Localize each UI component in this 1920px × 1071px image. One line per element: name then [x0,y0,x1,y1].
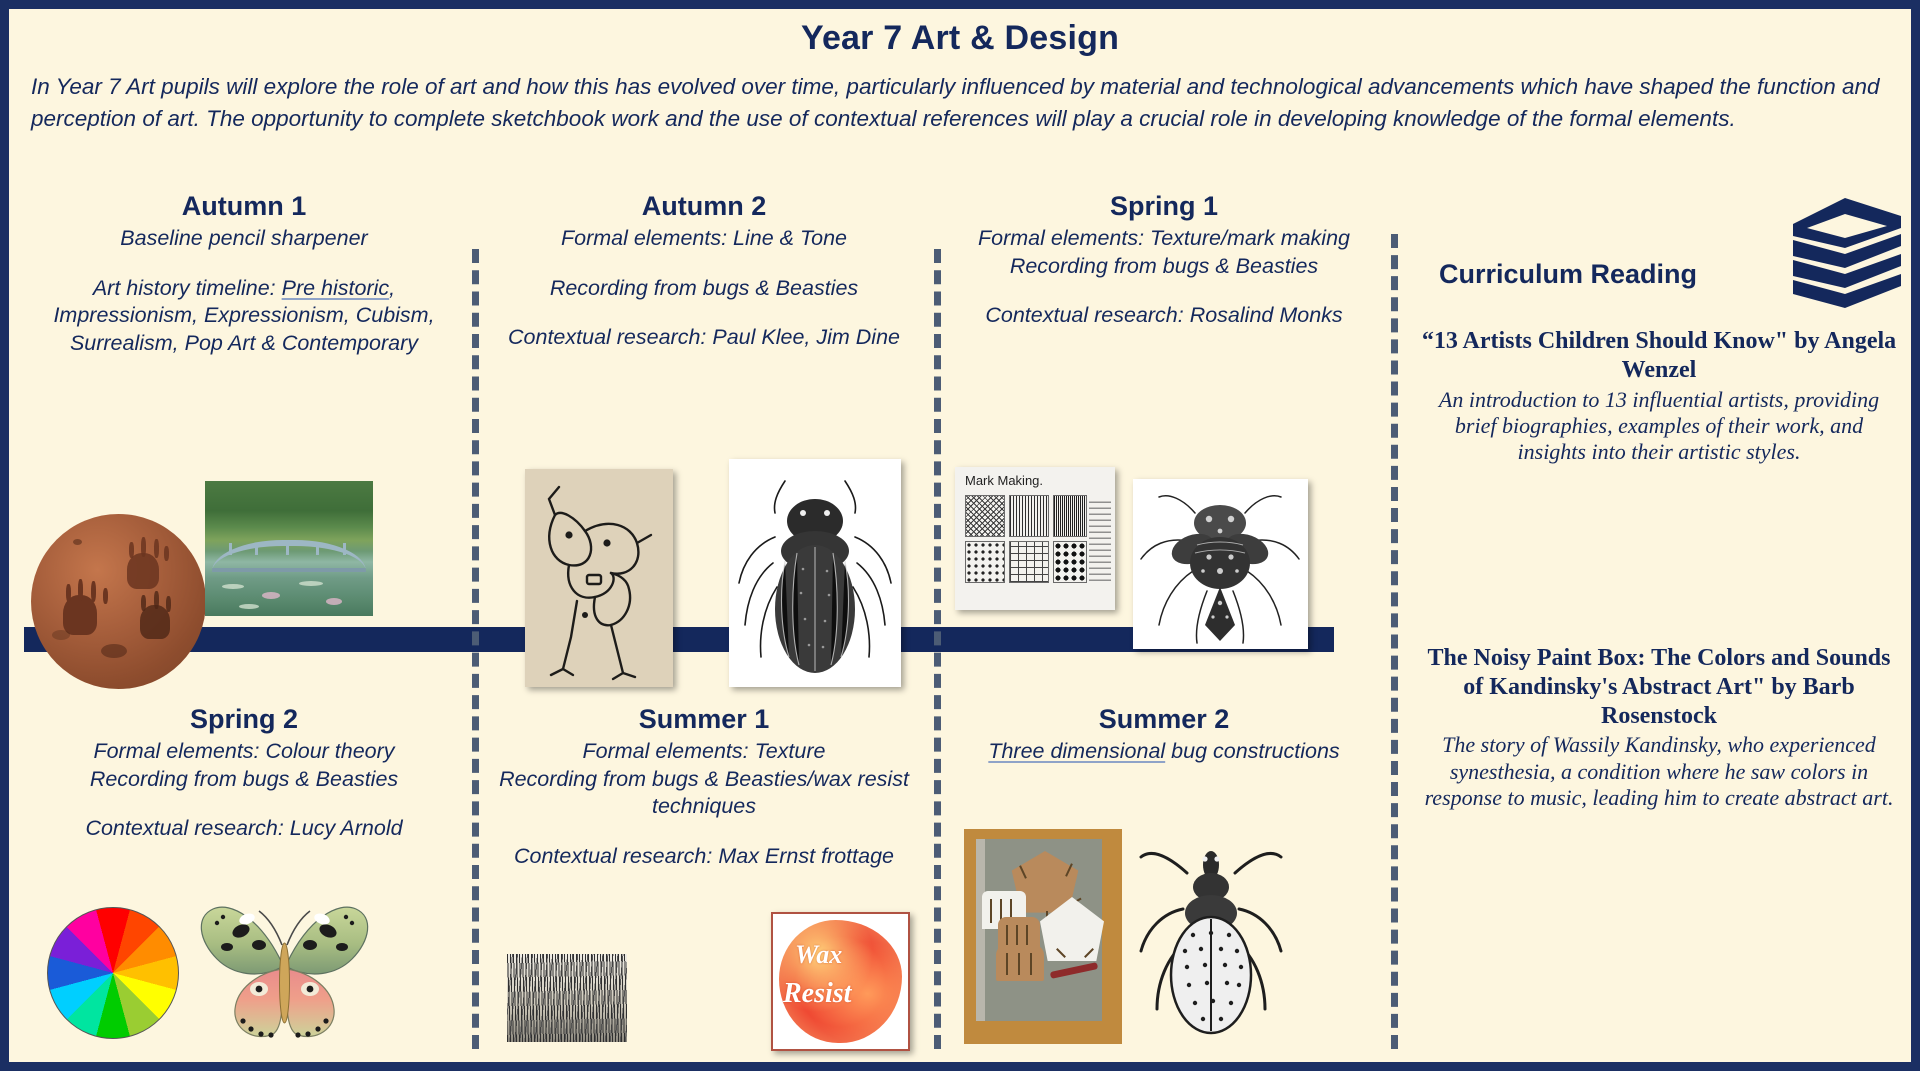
monet-water-lilies-bridge-artwork [205,481,373,616]
term-detail-autumn-1: Art history timeline: Pre historic, Impr… [29,275,459,358]
monks-beetle-svg [1133,479,1308,649]
term-line-spring-1-3: Contextual research: Rosalind Monks [954,302,1374,330]
mark-making-sketchbook-artwork: Mark Making. [955,467,1115,610]
stacked-books-svg [1787,194,1907,319]
grammar-flagged-text: Three dimensional [988,739,1165,763]
term-line-summer-1-3: Contextual research: Max Ernst frottage [494,843,914,871]
term-block-summer-1: Summer 1 Formal elements: Texture Record… [494,704,914,870]
cave-hands-artwork [31,514,206,689]
term-heading-autumn-2: Autumn 2 [494,191,914,222]
term-line-spring-2-3: Contextual research: Lucy Arnold [29,815,459,843]
wax-resist-artwork: Wax Resist [771,912,910,1051]
paul-klee-line-drawing-artwork [525,469,673,687]
book-entry-1: “13 Artists Children Should Know" by Ang… [1419,327,1899,466]
term-block-summer-2: Summer 2 Three dimensional bug construct… [954,704,1374,766]
book-entry-2: The Noisy Paint Box: The Colors and Soun… [1419,644,1899,812]
term-heading-summer-2: Summer 2 [954,704,1374,735]
weevil-engraving-artwork [1127,839,1302,1044]
detail-prefix: Art history timeline: [93,276,282,300]
term-line-summer-1-1: Formal elements: Texture [494,738,914,766]
term-line-summer-1-2: Recording from bugs & Beasties/wax resis… [494,766,914,821]
term-line-spring-2-2: Recording from bugs & Beasties [29,766,459,794]
book-description-1: An introduction to 13 influential artist… [1419,387,1899,466]
beetle-engraving-artwork [729,459,901,687]
column-divider-2 [934,249,941,1049]
term-line-summer-2-suffix: bug constructions [1165,739,1340,763]
poster-inner-frame: Year 7 Art & Design In Year 7 Art pupils… [6,6,1914,1065]
term-line-autumn-1-1: Baseline pencil sharpener [29,225,459,253]
term-heading-spring-2: Spring 2 [29,704,459,735]
stacked-books-icon [1787,194,1907,324]
term-line-autumn-2-1: Formal elements: Line & Tone [494,225,914,253]
column-divider-1 [472,249,479,1049]
curriculum-reading-heading: Curriculum Reading [1439,259,1697,290]
column-divider-3 [1391,234,1398,1049]
beetle-engraving-svg [729,459,901,687]
term-line-summer-2-1: Three dimensional bug constructions [954,738,1374,766]
rosalind-monks-beetle-artwork [1133,479,1308,649]
mark-making-title: Mark Making. [965,473,1043,488]
page-title: Year 7 Art & Design [9,19,1911,58]
weevil-svg [1127,839,1302,1044]
curriculum-reading-panel: Curriculum Reading “13 Artist [1409,239,1909,270]
wax-resist-label-line1: Wax [795,940,842,970]
max-ernst-frottage-artwork [507,954,627,1042]
book-title-2: The Noisy Paint Box: The Colors and Soun… [1419,644,1899,730]
term-line-spring-1-1: Formal elements: Texture/mark making [954,225,1374,253]
book-description-2: The story of Wassily Kandinsky, who expe… [1419,732,1899,811]
butterfly-svg [187,897,382,1047]
lucy-arnold-butterfly-artwork [187,897,382,1047]
poster-page: Year 7 Art & Design In Year 7 Art pupils… [0,0,1920,1071]
term-block-autumn-2: Autumn 2 Formal elements: Line & Tone Re… [494,191,914,352]
intro-paragraph: In Year 7 Art pupils will explore the ro… [31,71,1907,135]
term-line-autumn-2-3: Contextual research: Paul Klee, Jim Dine [494,324,914,352]
term-block-spring-1: Spring 1 Formal elements: Texture/mark m… [954,191,1374,330]
book-title-1: “13 Artists Children Should Know" by Ang… [1419,327,1899,385]
colour-wheel-artwork [47,907,179,1039]
term-line-autumn-2-2: Recording from bugs & Beasties [494,275,914,303]
term-heading-autumn-1: Autumn 1 [29,191,459,222]
term-heading-spring-1: Spring 1 [954,191,1374,222]
klee-line-svg [525,469,673,687]
term-block-spring-2: Spring 2 Formal elements: Colour theory … [29,704,459,843]
term-block-autumn-1: Autumn 1 Baseline pencil sharpener Art h… [29,191,459,357]
term-line-spring-1-2: Recording from bugs & Beasties [954,253,1374,281]
cardboard-bug-construction-photo [964,829,1122,1044]
spellcheck-flagged-text: Pre historic [282,276,390,300]
term-line-spring-2-1: Formal elements: Colour theory [29,738,459,766]
wax-resist-label-line2: Resist [783,978,851,1010]
term-heading-summer-1: Summer 1 [494,704,914,735]
